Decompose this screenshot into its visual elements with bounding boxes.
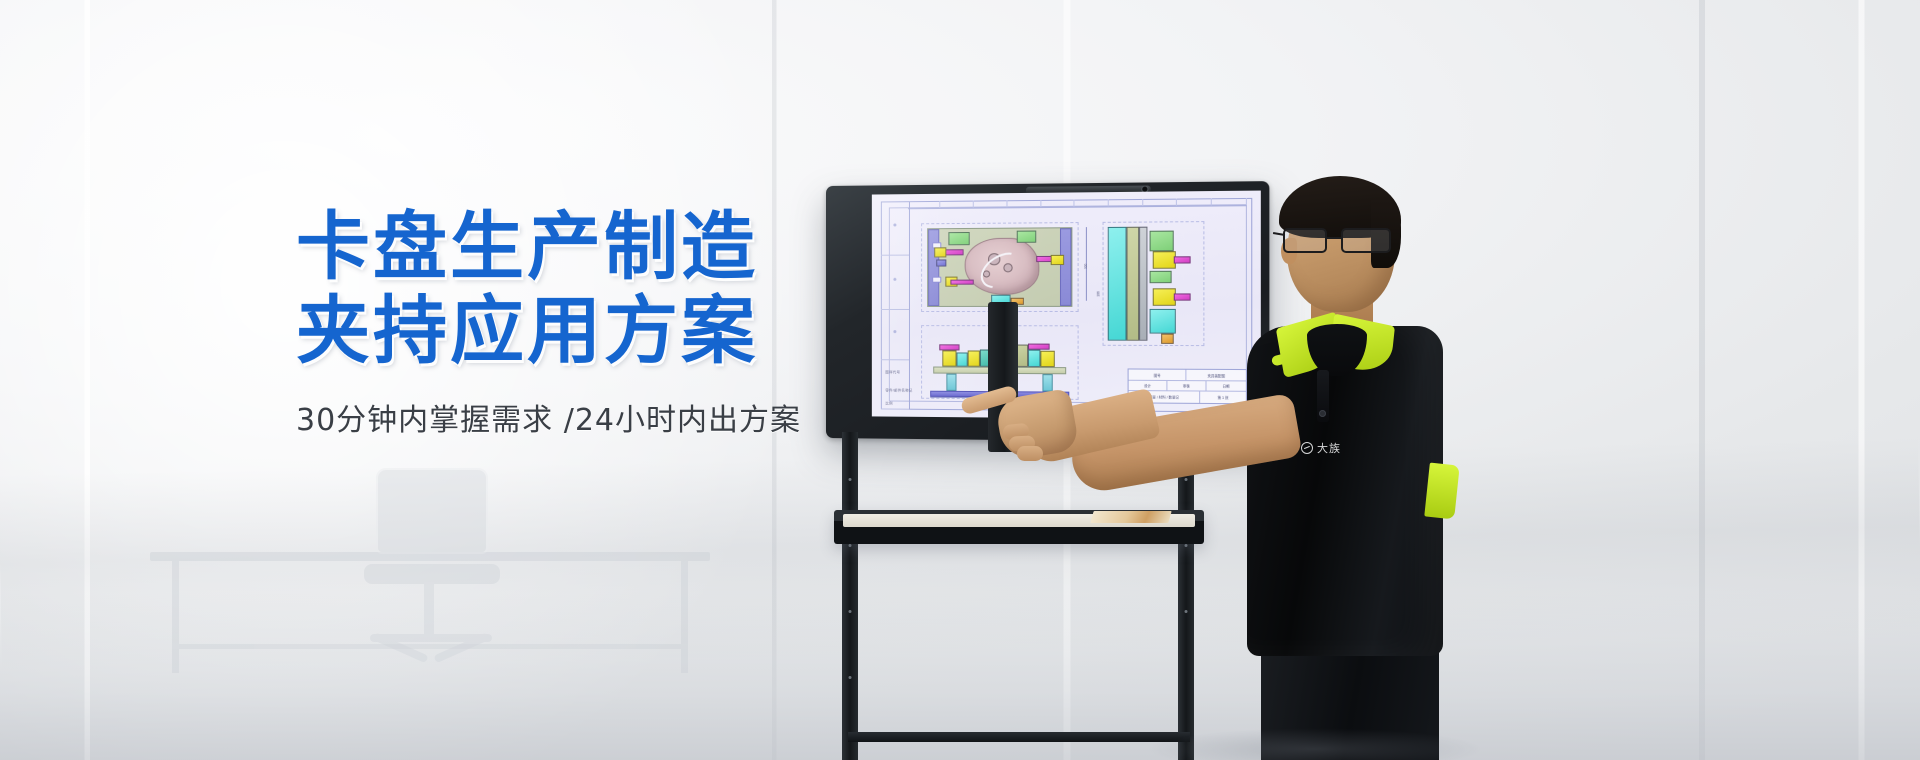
post-yellow-1 xyxy=(943,351,957,367)
presenter: 大族 xyxy=(1175,178,1455,760)
dimension-label-side-view: 186 xyxy=(1096,291,1100,296)
sheet-mini-label-0: 图样代号 xyxy=(885,369,900,374)
arm-magenta-2 xyxy=(1028,343,1050,349)
polo-button xyxy=(1319,410,1326,417)
fixture-leg-left xyxy=(946,373,957,391)
post-cyan-2 xyxy=(1028,349,1041,367)
eyeglass-lens-right xyxy=(1341,228,1391,253)
fixture-leg-right xyxy=(1042,374,1053,392)
side-block-green-2 xyxy=(1149,271,1172,284)
side-foot-orange xyxy=(1161,334,1173,344)
clamp-magenta-3 xyxy=(951,280,974,285)
dimension-label-top-view: 320 xyxy=(1084,263,1088,268)
eyeglass-lens-left xyxy=(1283,228,1327,253)
fixture-base-plate xyxy=(927,227,1072,307)
background-chair xyxy=(352,468,512,664)
cad-viewport-top: 320 xyxy=(921,222,1079,312)
side-block-cyan-2 xyxy=(1149,309,1176,334)
clamp-blue-1 xyxy=(937,260,947,267)
sheet-mini-label-1: 零件/部件名称记 xyxy=(885,387,912,392)
arm-magenta-1 xyxy=(940,345,960,351)
desk-leg-right xyxy=(681,561,688,673)
fixture-rail-right xyxy=(1060,228,1072,305)
shirt-chest-logo: 大族 xyxy=(1301,440,1341,456)
desk-leg-left xyxy=(172,561,179,673)
side-block-green-1 xyxy=(1149,231,1174,251)
chair-seat xyxy=(364,564,500,584)
post-yellow-3 xyxy=(1040,351,1054,367)
eyeglasses xyxy=(1279,228,1403,254)
side-column-olive xyxy=(1127,226,1139,341)
display-mobile-stand xyxy=(826,432,1218,760)
desk-top xyxy=(150,552,710,561)
chair-base xyxy=(370,634,492,642)
side-column-cyan xyxy=(1108,226,1126,341)
clamp-green-1 xyxy=(948,232,969,245)
company-mark-icon xyxy=(1301,442,1313,454)
sheet-mini-label-2: 比例 xyxy=(885,400,892,405)
side-block-yellow-2 xyxy=(1153,289,1176,307)
hero-banner: 卡盘生产制造 夹持应用方案 30分钟内掌握需求 /24小时内出方案 BOE xyxy=(0,0,1920,760)
stand-shelf xyxy=(834,510,1204,544)
side-column-grey xyxy=(1139,226,1147,341)
eyeglass-bridge xyxy=(1327,237,1343,239)
clamp-yellow-2 xyxy=(1051,255,1064,265)
stand-column-left xyxy=(842,432,858,760)
stand-cross-brace xyxy=(848,732,1190,742)
shirt-sleeve-trim xyxy=(1424,463,1459,520)
fixture-rail-left xyxy=(928,229,939,306)
shelf-document xyxy=(1090,511,1171,523)
hand-knuckle-3 xyxy=(1017,446,1043,461)
polo-collar xyxy=(1281,320,1397,378)
clamp-yellow-1 xyxy=(934,248,947,258)
chair-post xyxy=(424,582,434,636)
title-block-cell: 设计 xyxy=(1129,381,1168,391)
post-cyan-1 xyxy=(957,352,968,367)
post-yellow-2 xyxy=(968,351,981,367)
clamp-green-2 xyxy=(1016,231,1036,243)
workpiece-casting xyxy=(965,238,1039,295)
headline-line-1: 卡盘生产制造 xyxy=(296,204,758,290)
background-desk xyxy=(150,552,710,672)
side-block-yellow-1 xyxy=(1153,251,1176,269)
sheet-left-frame-column xyxy=(881,201,909,410)
desk-rail xyxy=(172,644,688,649)
chair-backrest xyxy=(376,468,488,554)
shirt-logo-text: 大族 xyxy=(1317,440,1341,456)
